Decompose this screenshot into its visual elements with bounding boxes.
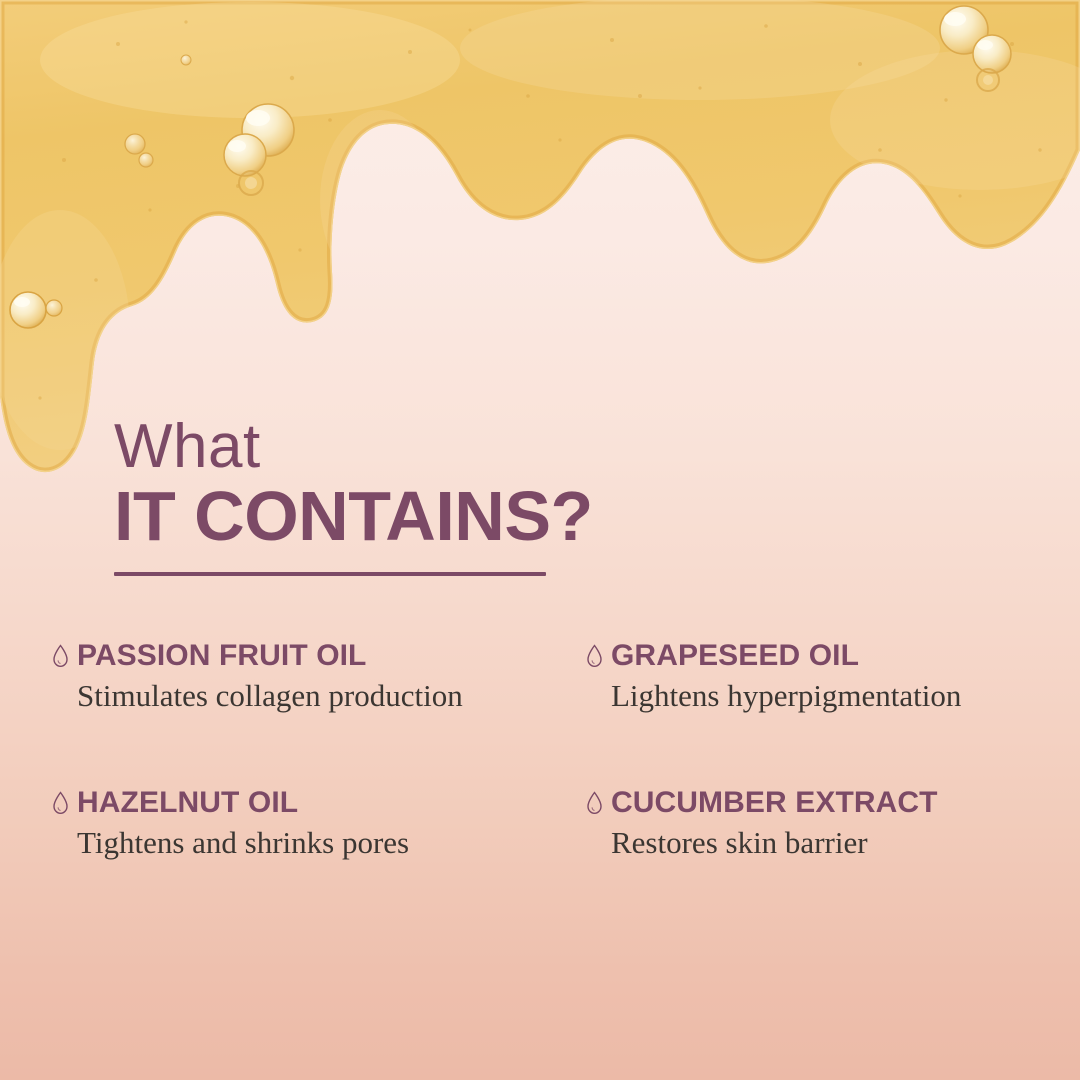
ingredient-header: HAZELNUT OIL [52, 787, 586, 819]
ingredients-infographic-poster: What IT CONTAINS? PASSION FRUIT OIL Stim… [0, 0, 1080, 1080]
ingredient-name: GRAPESEED OIL [611, 640, 859, 672]
ingredient-header: GRAPESEED OIL [586, 640, 1042, 672]
title-underline-rule [114, 572, 546, 576]
ingredient-description: Lightens hyperpigmentation [611, 678, 1042, 715]
ingredient-description: Restores skin barrier [611, 825, 1042, 862]
ingredient-description: Stimulates collagen production [77, 678, 586, 715]
ingredient-item: HAZELNUT OIL Tightens and shrinks pores [52, 787, 586, 862]
ingredient-header: PASSION FRUIT OIL [52, 640, 586, 672]
ingredient-item: PASSION FRUIT OIL Stimulates collagen pr… [52, 640, 586, 715]
ingredient-header: CUCUMBER EXTRACT [586, 787, 1042, 819]
water-drop-icon [52, 791, 69, 815]
page-title-line-2: IT CONTAINS? [114, 480, 734, 554]
water-drop-icon [52, 644, 69, 668]
ingredient-description: Tightens and shrinks pores [77, 825, 586, 862]
page-title-block: What IT CONTAINS? [114, 416, 734, 576]
ingredient-name: HAZELNUT OIL [77, 787, 298, 819]
page-title-line-1: What [114, 416, 734, 478]
ingredients-list: PASSION FRUIT OIL Stimulates collagen pr… [52, 640, 1042, 862]
ingredient-item: GRAPESEED OIL Lightens hyperpigmentation [586, 640, 1042, 715]
water-drop-icon [586, 644, 603, 668]
ingredient-name: PASSION FRUIT OIL [77, 640, 366, 672]
water-drop-icon [586, 791, 603, 815]
ingredient-item: CUCUMBER EXTRACT Restores skin barrier [586, 787, 1042, 862]
ingredient-name: CUCUMBER EXTRACT [611, 787, 938, 819]
